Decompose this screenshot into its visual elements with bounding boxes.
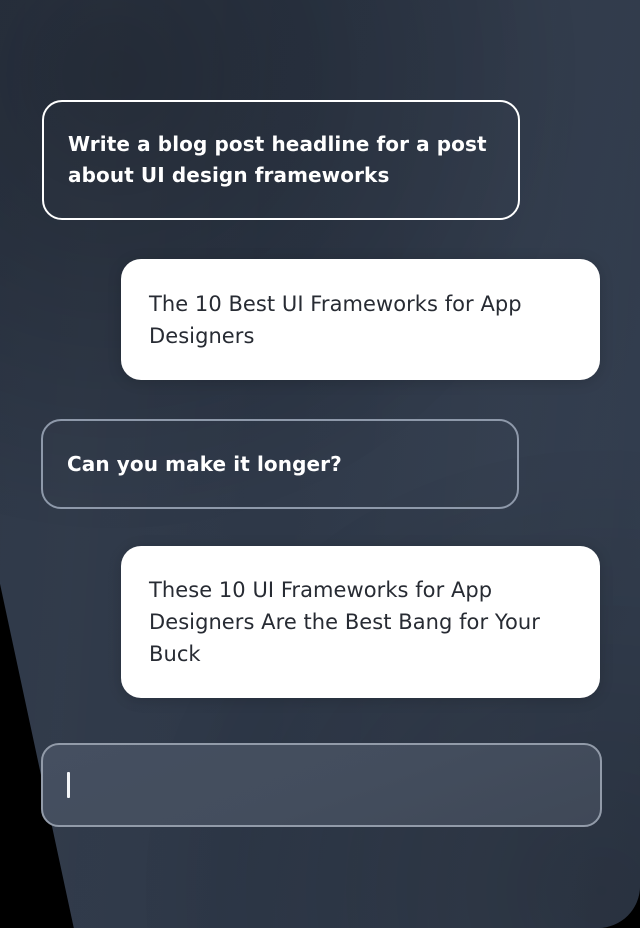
text-cursor-icon — [67, 772, 70, 798]
message-input[interactable] — [41, 743, 602, 827]
message-text: Write a blog post headline for a post ab… — [68, 129, 494, 191]
message-text: The 10 Best UI Frameworks for App Design… — [149, 288, 572, 352]
message-bubble-user-1[interactable]: Write a blog post headline for a post ab… — [42, 100, 520, 220]
message-text: Can you make it longer? — [67, 449, 342, 480]
message-bubble-assistant-1[interactable]: The 10 Best UI Frameworks for App Design… — [121, 259, 600, 380]
chat-card: Write a blog post headline for a post ab… — [0, 0, 640, 928]
message-bubble-assistant-2[interactable]: These 10 UI Frameworks for App Designers… — [121, 546, 600, 698]
message-bubble-user-2[interactable]: Can you make it longer? — [41, 419, 519, 509]
conversation-list: Write a blog post headline for a post ab… — [0, 0, 640, 928]
message-text: These 10 UI Frameworks for App Designers… — [149, 574, 572, 670]
